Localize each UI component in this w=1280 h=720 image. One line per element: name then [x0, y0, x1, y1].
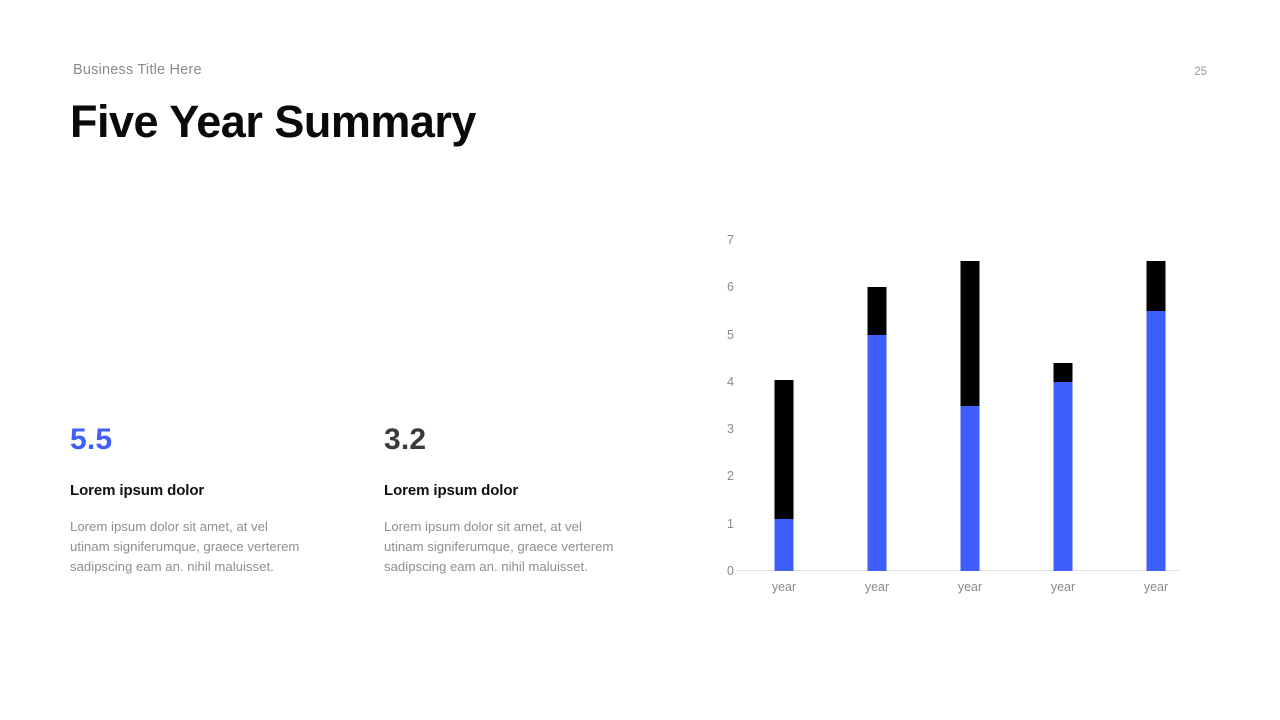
stat-heading-1: Lorem ipsum dolor — [70, 482, 384, 499]
stat-value-2: 3.2 — [384, 424, 630, 456]
page-number: 25 — [1194, 66, 1207, 78]
plot-area: yearyearyearyearyear — [736, 240, 1184, 571]
y-tick-label: 6 — [700, 280, 734, 294]
stat-heading-2: Lorem ipsum dolor — [384, 482, 630, 499]
y-tick-label: 7 — [700, 233, 734, 247]
bar-segment-lower[interactable] — [775, 519, 794, 571]
y-tick-label: 1 — [700, 517, 734, 531]
bar-stack[interactable] — [1147, 261, 1166, 571]
bar-segment-upper[interactable] — [868, 287, 887, 334]
stat-block-2: 3.2 Lorem ipsum dolor Lorem ipsum dolor … — [384, 424, 630, 577]
bar-stack[interactable] — [961, 261, 980, 571]
y-tick-label: 3 — [700, 422, 734, 436]
y-tick-label: 0 — [700, 564, 734, 578]
y-tick-label: 4 — [700, 375, 734, 389]
bar-segment-lower[interactable] — [868, 335, 887, 571]
page-title: Five Year Summary — [70, 96, 476, 148]
bar-stack[interactable] — [1054, 363, 1073, 571]
bar-stack[interactable] — [868, 287, 887, 571]
stat-value-1: 5.5 — [70, 424, 384, 456]
bar-segment-upper[interactable] — [1147, 261, 1166, 311]
bar-segment-upper[interactable] — [961, 261, 980, 405]
x-tick-label: year — [842, 580, 912, 594]
bar-segment-upper[interactable] — [1054, 363, 1073, 382]
stat-block-1: 5.5 Lorem ipsum dolor Lorem ipsum dolor … — [70, 424, 384, 577]
y-tick-label: 5 — [700, 328, 734, 342]
bar-stack[interactable] — [775, 380, 794, 571]
x-tick-label: year — [1028, 580, 1098, 594]
stat-body-2: Lorem ipsum dolor sit amet, at vel utina… — [384, 517, 619, 578]
bar-segment-lower[interactable] — [961, 406, 980, 572]
five-year-bar-chart: 01234567 yearyearyearyearyear — [700, 240, 1200, 600]
slide: Business Title Here Five Year Summary 25… — [0, 0, 1280, 720]
x-tick-label: year — [749, 580, 819, 594]
bar-segment-upper[interactable] — [775, 380, 794, 519]
eyebrow-label: Business Title Here — [73, 62, 202, 78]
bar-segment-lower[interactable] — [1147, 311, 1166, 571]
axis-baseline — [736, 570, 1180, 571]
bar-segment-lower[interactable] — [1054, 382, 1073, 571]
stat-body-1: Lorem ipsum dolor sit amet, at vel utina… — [70, 517, 305, 578]
x-tick-label: year — [935, 580, 1005, 594]
stats-row: 5.5 Lorem ipsum dolor Lorem ipsum dolor … — [70, 424, 630, 577]
x-tick-label: year — [1121, 580, 1191, 594]
y-axis: 01234567 — [700, 240, 734, 571]
y-tick-label: 2 — [700, 469, 734, 483]
